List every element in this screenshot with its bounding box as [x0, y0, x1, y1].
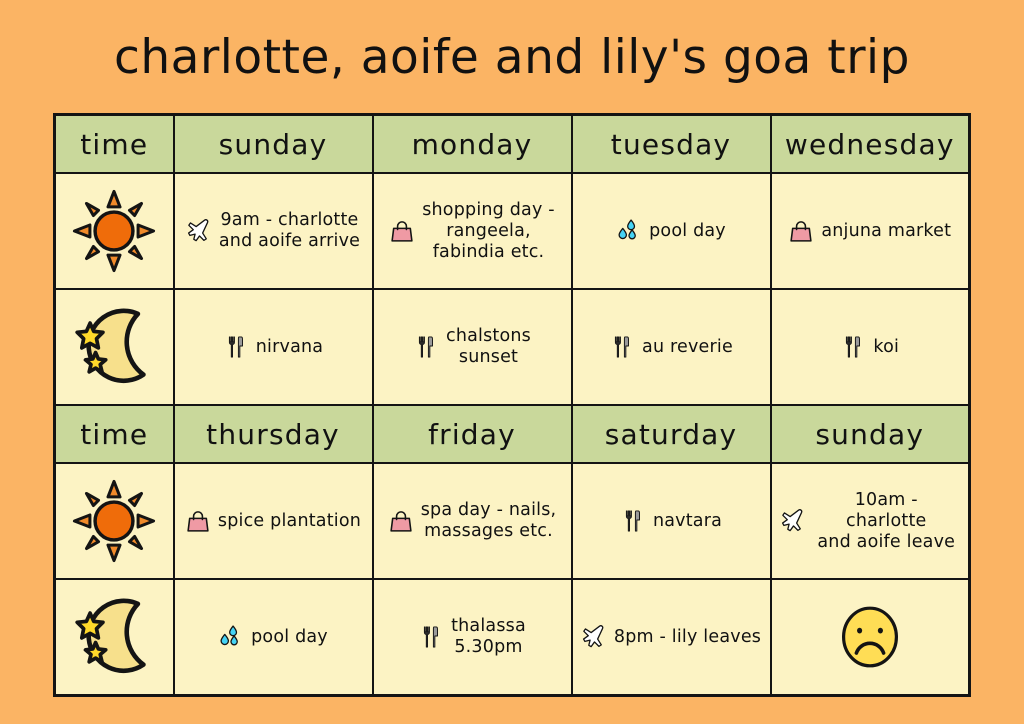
week2-header-time: time — [55, 405, 174, 463]
week2-header-friday: friday — [373, 405, 572, 463]
schedule-table: time sunday monday tuesday wednesday — [53, 113, 971, 697]
shopping-bag-icon — [185, 506, 211, 536]
shopping-bag-icon — [788, 216, 814, 246]
week1-header-time: time — [55, 115, 174, 174]
week1-header-row: time sunday monday tuesday wednesday — [55, 115, 970, 174]
sad-face-icon — [772, 580, 969, 694]
week1-header-wednesday: wednesday — [771, 115, 970, 174]
fork-and-knife-icon — [620, 506, 646, 536]
week2-header-saturday: saturday — [572, 405, 771, 463]
cell-text: pool day — [251, 627, 328, 648]
cell-text: nirvana — [256, 337, 323, 358]
week1-night-row: nirvana chalstons sunset — [55, 289, 970, 405]
page-title: charlotte, aoife and lily's goa trip — [0, 28, 1024, 88]
cell-text: chalstons sunset — [446, 326, 531, 368]
cell-text: spice plantation — [218, 511, 361, 532]
week1-header-monday: monday — [373, 115, 572, 174]
cell-text: 10am - charlotte and aoife leave — [813, 490, 961, 553]
cell-text: au reverie — [642, 337, 733, 358]
fork-and-knife-icon — [413, 332, 439, 362]
cell-text: 8pm - lily leaves — [614, 627, 761, 648]
water-droplets-icon — [616, 216, 642, 246]
cell-text: 9am - charlotte and aoife arrive — [219, 210, 360, 252]
fork-and-knife-icon — [840, 332, 866, 362]
week2-header-row: time thursday friday saturday sunday — [55, 405, 970, 463]
fork-and-knife-icon — [223, 332, 249, 362]
cell-text: thalassa 5.30pm — [451, 616, 526, 658]
cell-week1-sunday-night[interactable]: nirvana — [174, 289, 373, 405]
fork-and-knife-icon — [609, 332, 635, 362]
cell-text: shopping day - rangeela, fabindia etc. — [422, 200, 555, 263]
week1-night-time-cell — [55, 289, 174, 405]
cell-week2-sunday-day[interactable]: 10am - charlotte and aoife leave — [771, 463, 970, 579]
airplane-icon — [780, 506, 806, 536]
cell-text: koi — [873, 337, 899, 358]
schedule-body: time sunday monday tuesday wednesday — [55, 115, 970, 696]
cell-week2-saturday-day[interactable]: navtara — [572, 463, 771, 579]
week2-day-row: spice plantation spa day - nails, massag… — [55, 463, 970, 579]
cell-week1-monday-day[interactable]: shopping day - rangeela, fabindia etc. — [373, 173, 572, 289]
week1-header-tuesday: tuesday — [572, 115, 771, 174]
cell-week2-thursday-night[interactable]: pool day — [174, 579, 373, 696]
cell-week1-monday-night[interactable]: chalstons sunset — [373, 289, 572, 405]
sun-icon — [56, 174, 173, 288]
shopping-bag-icon — [389, 216, 415, 246]
airplane-icon — [581, 622, 607, 652]
week1-day-row: 9am - charlotte and aoife arrive shoppin… — [55, 173, 970, 289]
cell-text: pool day — [649, 221, 726, 242]
cell-week2-thursday-day[interactable]: spice plantation — [174, 463, 373, 579]
week2-header-thursday: thursday — [174, 405, 373, 463]
week2-day-time-cell — [55, 463, 174, 579]
cell-week1-wednesday-night[interactable]: koi — [771, 289, 970, 405]
fork-and-knife-icon — [418, 622, 444, 652]
week2-header-sunday: sunday — [771, 405, 970, 463]
cell-week2-sunday-night-empty — [771, 579, 970, 696]
cell-week1-sunday-day[interactable]: 9am - charlotte and aoife arrive — [174, 173, 373, 289]
water-droplets-icon — [218, 622, 244, 652]
week1-header-sunday: sunday — [174, 115, 373, 174]
week1-day-time-cell — [55, 173, 174, 289]
cell-week2-friday-day[interactable]: spa day - nails, massages etc. — [373, 463, 572, 579]
cell-text: spa day - nails, massages etc. — [421, 500, 557, 542]
cell-week1-wednesday-day[interactable]: anjuna market — [771, 173, 970, 289]
moon-stars-icon — [56, 290, 173, 404]
cell-week2-friday-night[interactable]: thalassa 5.30pm — [373, 579, 572, 696]
cell-week1-tuesday-night[interactable]: au reverie — [572, 289, 771, 405]
cell-week1-tuesday-day[interactable]: pool day — [572, 173, 771, 289]
sun-icon — [56, 464, 173, 578]
cell-week2-saturday-night[interactable]: 8pm - lily leaves — [572, 579, 771, 696]
week2-night-time-cell — [55, 579, 174, 696]
cell-text: navtara — [653, 511, 722, 532]
shopping-bag-icon — [388, 506, 414, 536]
week2-night-row: pool day thalassa 5.30pm — [55, 579, 970, 696]
cell-text: anjuna market — [821, 221, 951, 242]
airplane-icon — [186, 216, 212, 246]
moon-stars-icon — [56, 580, 173, 694]
